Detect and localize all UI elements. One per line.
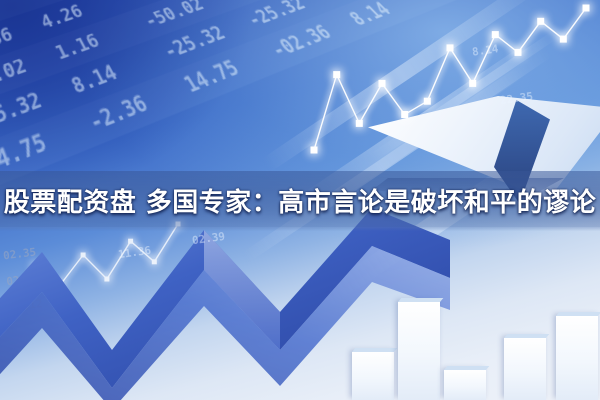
chart-marker bbox=[537, 18, 544, 25]
chart-marker bbox=[560, 36, 567, 43]
chart-line bbox=[314, 8, 586, 150]
chart-marker bbox=[447, 44, 454, 51]
headline-underline bbox=[0, 227, 600, 231]
chart-marker bbox=[469, 80, 476, 87]
stock-banner-image: -0.75-2.36-02.36-56.95+45.02-1.25-2.95-0… bbox=[0, 0, 600, 400]
chart-marker bbox=[401, 111, 408, 118]
bar-2 bbox=[398, 302, 440, 400]
bar-3 bbox=[444, 370, 486, 400]
bar-1 bbox=[352, 352, 394, 400]
chart-marker bbox=[492, 31, 499, 38]
bar-4 bbox=[504, 338, 546, 400]
chart-marker bbox=[311, 147, 318, 154]
chart-marker bbox=[356, 120, 363, 127]
chart-marker bbox=[379, 80, 386, 87]
chart-marker bbox=[333, 71, 340, 78]
chart-marker bbox=[424, 98, 431, 105]
chart-marker bbox=[515, 49, 522, 56]
bar-5 bbox=[556, 316, 598, 400]
glow-line-chart bbox=[300, 0, 600, 164]
chart-marker bbox=[583, 5, 590, 12]
headline-text: 股票配资盘 多国专家：高市言论是破坏和平的谬论 bbox=[0, 180, 600, 220]
